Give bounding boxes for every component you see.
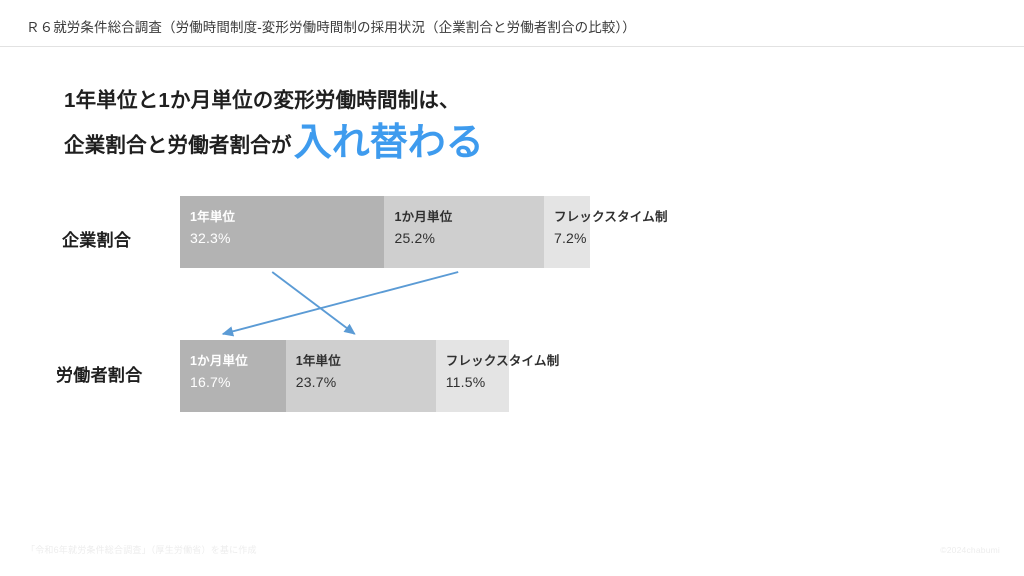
bar-row-label-company: 企業割合: [62, 226, 131, 251]
bar-segment[interactable]: フレックスタイム制 7.2%: [544, 196, 590, 268]
bar-segment-name: 1年単位: [190, 206, 235, 225]
stacked-bar-chart: 企業割合 1年単位 32.3% 1か月単位 25.2% フレックスタイム制 7.…: [0, 0, 1024, 576]
bar-segment-value: 11.5%: [446, 374, 486, 390]
bar-segment[interactable]: フレックスタイム制 11.5%: [436, 340, 509, 412]
bar-segment-value: 32.3%: [190, 230, 231, 246]
bar-segment-value: 23.7%: [296, 374, 337, 390]
swap-arrow-left-down: [223, 272, 458, 334]
swap-arrows-group: [0, 0, 1024, 576]
bar-row-company: 1年単位 32.3% 1か月単位 25.2% フレックスタイム制 7.2%: [180, 196, 590, 268]
bar-segment-name: フレックスタイム制: [554, 206, 668, 225]
slide-canvas: Ｒ６就労条件総合調査（労働時間制度-変形労働時間制の採用状況（企業割合と労働者割…: [0, 0, 1024, 576]
copyright-note: ©2024chabumi: [940, 545, 1000, 555]
bar-segment[interactable]: 1か月単位 25.2%: [384, 196, 544, 268]
bar-segment[interactable]: 1か月単位 16.7%: [180, 340, 286, 412]
bar-row-label-worker: 労働者割合: [56, 361, 143, 386]
bar-segment[interactable]: 1年単位 32.3%: [180, 196, 384, 268]
bar-segment-name: フレックスタイム制: [446, 350, 560, 369]
bar-segment-name: 1か月単位: [394, 206, 452, 225]
bar-segment-value: 25.2%: [394, 230, 435, 246]
bar-segment-name: 1か月単位: [190, 350, 248, 369]
source-note: 「令和6年就労条件総合調査」（厚生労働省）を基に作成: [26, 543, 257, 556]
bar-segment-name: 1年単位: [296, 350, 341, 369]
bar-segment[interactable]: 1年単位 23.7%: [286, 340, 436, 412]
swap-arrow-right-down: [272, 272, 354, 334]
bar-segment-value: 16.7%: [190, 374, 231, 390]
bar-segment-value: 7.2%: [554, 230, 587, 246]
bar-row-worker: 1か月単位 16.7% 1年単位 23.7% フレックスタイム制 11.5%: [180, 340, 509, 412]
